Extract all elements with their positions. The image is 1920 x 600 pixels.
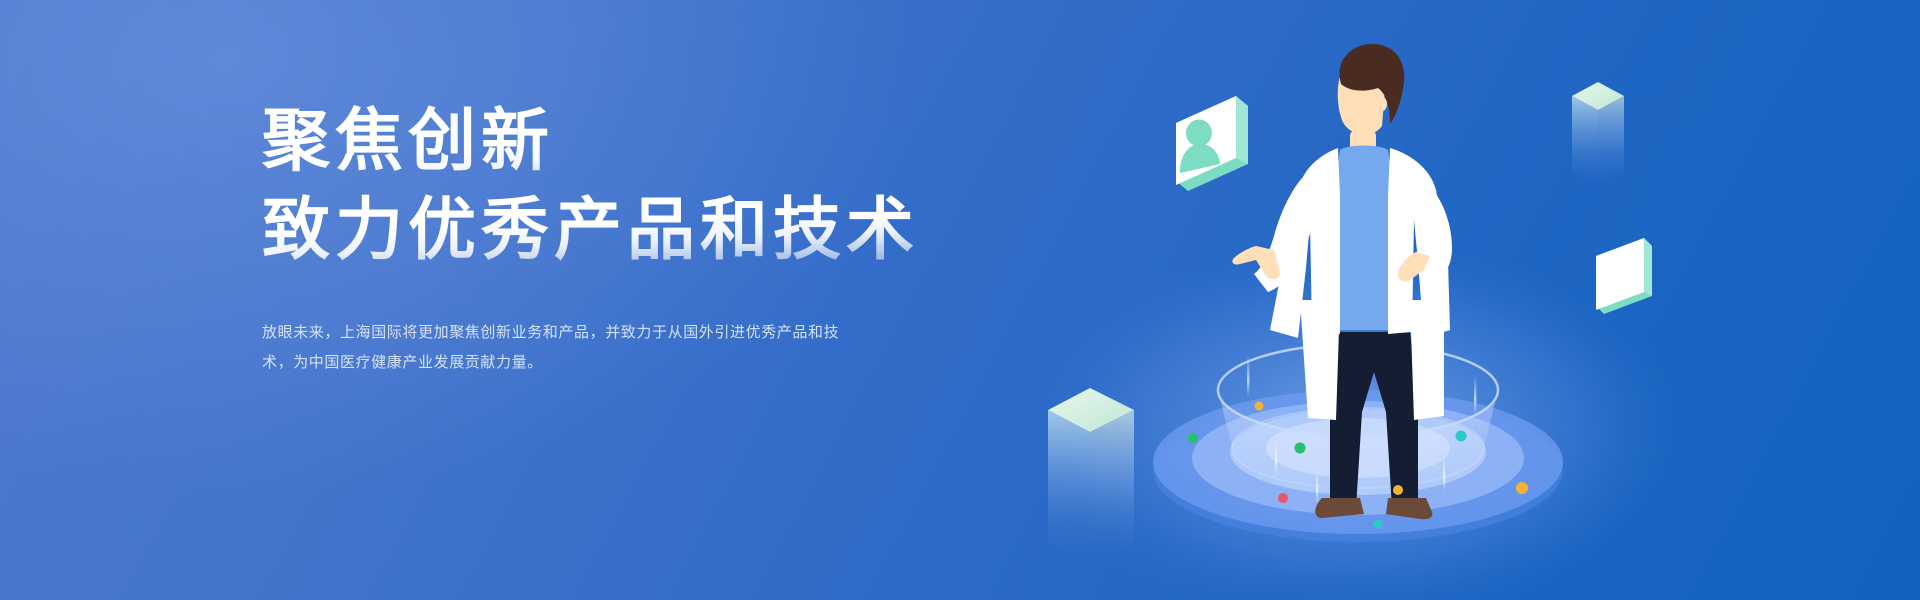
hero-banner: 聚焦创新 致力优秀产品和技术 放眼未来，上海国际将更加聚焦创新业务和产品，并致力…: [0, 0, 1920, 600]
hero-subtitle: 放眼未来，上海国际将更加聚焦创新业务和产品，并致力于从国外引进优秀产品和技术，为…: [262, 318, 862, 378]
decor-box-small: [1572, 82, 1624, 185]
coat-skirt-right: [1410, 300, 1444, 420]
ear: [1377, 97, 1387, 111]
shirt: [1334, 146, 1394, 331]
decor-box-tall: [1048, 388, 1134, 560]
hero-text-block: 聚焦创新 致力优秀产品和技术 放眼未来，上海国际将更加聚焦创新业务和产品，并致力…: [262, 100, 1022, 378]
headline-line-2: 致力优秀产品和技术: [262, 189, 1022, 272]
decor-card: [1596, 238, 1652, 314]
floating-user-card: [1176, 96, 1248, 191]
headline-line-1: 聚焦创新: [262, 100, 1022, 183]
